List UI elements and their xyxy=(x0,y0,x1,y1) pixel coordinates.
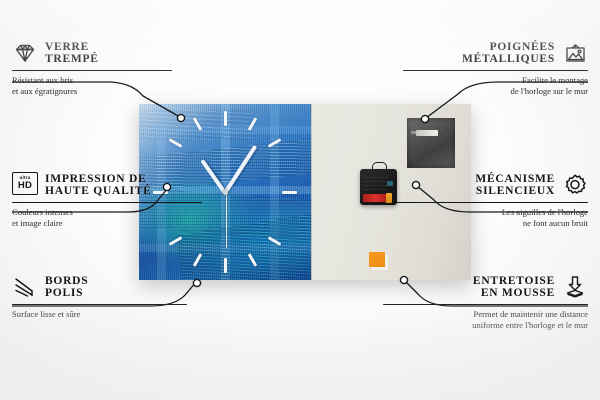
feature-subtitle-line1: Surface lisse et sûre xyxy=(12,309,187,320)
feature-title-line1: MÉCANISME xyxy=(475,173,555,185)
feature-poignees-metalliques: POIGNÉES MÉTALLIQUES Facilite le montage… xyxy=(403,40,588,97)
feature-subtitle-line1: Les aiguilles de l'horloge xyxy=(392,207,588,218)
feature-subtitle-line2: ne font aucun bruit xyxy=(392,218,588,229)
feature-title-line1: POIGNÉES xyxy=(462,41,555,53)
feature-subtitle-line1: Résistant aux bris xyxy=(12,75,172,86)
feature-title-line1: BORDS xyxy=(45,275,88,287)
clock-second-hand xyxy=(226,192,228,248)
foam-spacer xyxy=(369,252,385,267)
feature-subtitle-line1: Couleurs intenses xyxy=(12,207,202,218)
feature-subtitle-line2: uniforme entre l'horloge et le mur xyxy=(383,320,588,331)
battery xyxy=(363,194,391,202)
polished-edges-icon xyxy=(12,274,38,300)
framed-picture-icon xyxy=(562,40,588,66)
feature-impression-haute-qualite: ultra HD IMPRESSION DE HAUTE QUALITÉ Cou… xyxy=(12,172,202,229)
feature-title-line2: POLIS xyxy=(45,287,88,299)
feature-title-line1: VERRE xyxy=(45,41,99,53)
feature-mecanisme-silencieux: MÉCANISME SILENCIEUX Les aiguilles de l'… xyxy=(392,172,588,229)
feature-title-line2: TREMPÉ xyxy=(45,53,99,65)
ultra-hd-icon-large-label: HD xyxy=(18,181,32,191)
divider xyxy=(12,304,187,305)
divider xyxy=(12,70,172,71)
feature-subtitle-line2: et image claire xyxy=(12,218,202,229)
feature-title-line1: ENTRETOISE xyxy=(473,275,555,287)
feature-bords-polis: BORDS POLIS Surface lisse et sûre xyxy=(12,274,187,320)
feature-subtitle-line2: de l'horloge sur le mur xyxy=(403,86,588,97)
feature-title-line2: SILENCIEUX xyxy=(475,185,555,197)
divider xyxy=(392,202,588,203)
feature-subtitle-line2: et aux égratignures xyxy=(12,86,172,97)
feature-title-line2: HAUTE QUALITÉ xyxy=(45,185,152,197)
divider xyxy=(12,202,202,203)
metal-hanger-plate xyxy=(407,118,455,168)
feature-subtitle-line1: Permet de maintenir une distance xyxy=(383,309,588,320)
feature-title-line2: MÉTALLIQUES xyxy=(462,53,555,65)
ultra-hd-icon: ultra HD xyxy=(12,172,38,198)
feature-title-line2: EN MOUSSE xyxy=(473,287,555,299)
gear-icon xyxy=(562,172,588,198)
infographic-canvas: VERRE TREMPÉ Résistant aux bris et aux é… xyxy=(0,0,600,400)
arrow-down-pad-icon xyxy=(562,274,588,300)
divider xyxy=(403,70,588,71)
divider xyxy=(383,304,588,305)
feature-title-line1: IMPRESSION DE xyxy=(45,173,152,185)
diamond-icon xyxy=(12,40,38,66)
feature-verre-trempe: VERRE TREMPÉ Résistant aux bris et aux é… xyxy=(12,40,172,97)
feature-subtitle-line1: Facilite le montage xyxy=(403,75,588,86)
feature-entretoise-en-mousse: ENTRETOISE EN MOUSSE Permet de maintenir… xyxy=(383,274,588,331)
